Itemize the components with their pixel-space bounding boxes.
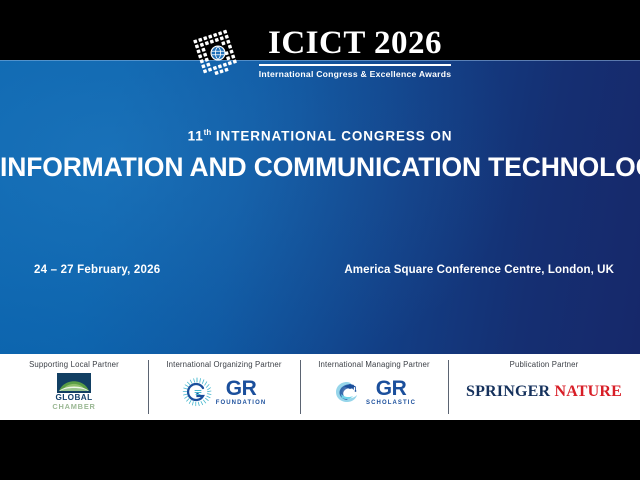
headline-block: 11th INTERNATIONAL CONGRESS ON INFORMATI… — [0, 128, 640, 183]
brand-title: ICICT 2026 — [268, 27, 442, 61]
partner-international-managing: International Managing Partner GR SCHOLA… — [300, 354, 448, 420]
partner-logo[interactable]: GLOBAL CHAMBER — [52, 372, 95, 412]
event-venue: America Square Conference Centre, London… — [344, 264, 640, 276]
brand-lockup: ICICT 2026 International Congress & Exce… — [0, 24, 640, 82]
partner-logo[interactable]: GR SCHOLASTIC — [332, 372, 416, 412]
global-chamber-sub: CHAMBER — [52, 403, 95, 410]
partner-logo[interactable]: SPRINGER NATURE — [466, 372, 622, 412]
brand-divider — [259, 64, 451, 66]
partner-logo[interactable]: GR FOUNDATION — [182, 372, 267, 412]
partner-label: International Managing Partner — [318, 360, 430, 369]
event-meta-row: 24 – 27 February, 2026 America Square Co… — [0, 264, 640, 276]
partner-bar: Supporting Local Partner GLOBAL CHAMBER … — [0, 354, 640, 420]
partner-international-organizing: International Organizing Partner — [148, 354, 300, 420]
partner-supporting-local: Supporting Local Partner GLOBAL CHAMBER — [0, 354, 148, 420]
partner-label: Publication Partner — [510, 360, 579, 369]
event-dates: 24 – 27 February, 2026 — [0, 264, 160, 276]
gr-foundation-name: GR — [226, 378, 257, 399]
letterbox-bottom — [0, 420, 640, 480]
nature-word: NATURE — [554, 383, 622, 400]
global-chamber-logo-icon — [57, 373, 91, 393]
headline-kicker: 11th INTERNATIONAL CONGRESS ON — [0, 128, 640, 144]
video-frame: ICICT 2026 International Congress & Exce… — [0, 0, 640, 480]
kicker-rest: INTERNATIONAL CONGRESS ON — [216, 129, 453, 144]
partner-label: International Organizing Partner — [166, 360, 281, 369]
kicker-number: 11 — [188, 129, 204, 144]
springer-nature-logo-icon: SPRINGER NATURE — [466, 383, 622, 401]
icict-dotted-globe-logo-icon — [189, 24, 247, 82]
springer-word: SPRINGER — [466, 383, 550, 400]
conference-banner — [0, 60, 640, 354]
partner-publication: Publication Partner SPRINGER NATURE — [448, 354, 640, 420]
kicker-ordinal: th — [204, 128, 212, 137]
gr-scholastic-logo-icon — [332, 377, 362, 407]
headline-title: INFORMATION AND COMMUNICATION TECHNOLOGY — [0, 152, 640, 183]
brand-subtitle: International Congress & Excellence Awar… — [259, 69, 451, 79]
gr-foundation-sub: FOUNDATION — [216, 400, 267, 406]
partner-label: Supporting Local Partner — [29, 360, 119, 369]
gr-scholastic-name: GR — [376, 378, 407, 399]
gr-scholastic-sub: SCHOLASTIC — [366, 400, 416, 406]
gr-foundation-logo-icon — [182, 377, 212, 407]
